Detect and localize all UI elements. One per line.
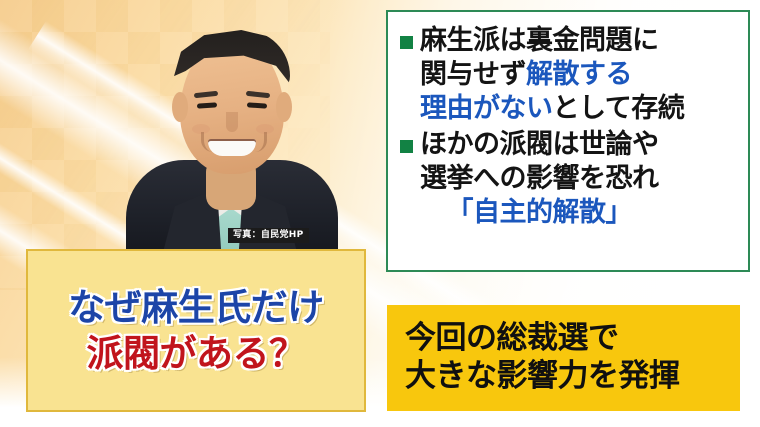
portrait-ear-right xyxy=(276,92,292,122)
square-bullet-icon xyxy=(400,36,413,49)
info-panel: 麻生派は裏金問題に 関与せず解散する 理由がないとして存続 ほかの派閥は世論や … xyxy=(386,10,750,272)
info-line: 理由がないとして存続 xyxy=(420,92,684,126)
info-line: 関与せず解散する xyxy=(420,58,684,92)
portrait-mouth xyxy=(208,139,256,156)
highlight-line-1: 今回の総裁選で xyxy=(405,321,740,357)
info-bullet-item: 麻生派は裏金問題に 関与せず解散する 理由がないとして存続 xyxy=(398,24,738,126)
info-line: 「自主的解散」 xyxy=(420,196,659,230)
highlight-line-2: 大きな影響力を発揮 xyxy=(405,359,740,395)
info-line: 選挙への影響を恐れ xyxy=(420,162,659,196)
highlight-box: 今回の総裁選で 大きな影響力を発揮 xyxy=(387,305,740,411)
info-bullet-text: 麻生派は裏金問題に 関与せず解散する 理由がないとして存続 xyxy=(420,24,684,126)
square-bullet-icon xyxy=(400,140,413,153)
info-bullet-text: ほかの派閥は世論や 選挙への影響を恐れ 「自主的解散」 xyxy=(420,128,659,230)
portrait-nose xyxy=(226,112,238,132)
info-line: 麻生派は裏金問題に xyxy=(420,24,684,58)
question-box: なぜ麻生氏だけ 派閥がある？ xyxy=(26,249,366,412)
news-graphic-stage: 写真：自民党HP 麻生派は裏金問題に 関与せず解散する 理由がないとして存続 ほ… xyxy=(0,0,760,427)
portrait-photo xyxy=(108,8,352,256)
photo-credit: 写真：自民党HP xyxy=(228,228,309,243)
info-line: ほかの派閥は世論や xyxy=(420,128,659,162)
info-bullet-item: ほかの派閥は世論や 選挙への影響を恐れ 「自主的解散」 xyxy=(398,128,738,230)
portrait-ear-left xyxy=(172,92,188,122)
question-line-2: 派閥がある？ xyxy=(87,334,306,374)
question-line-1: なぜ麻生氏だけ xyxy=(68,288,324,328)
